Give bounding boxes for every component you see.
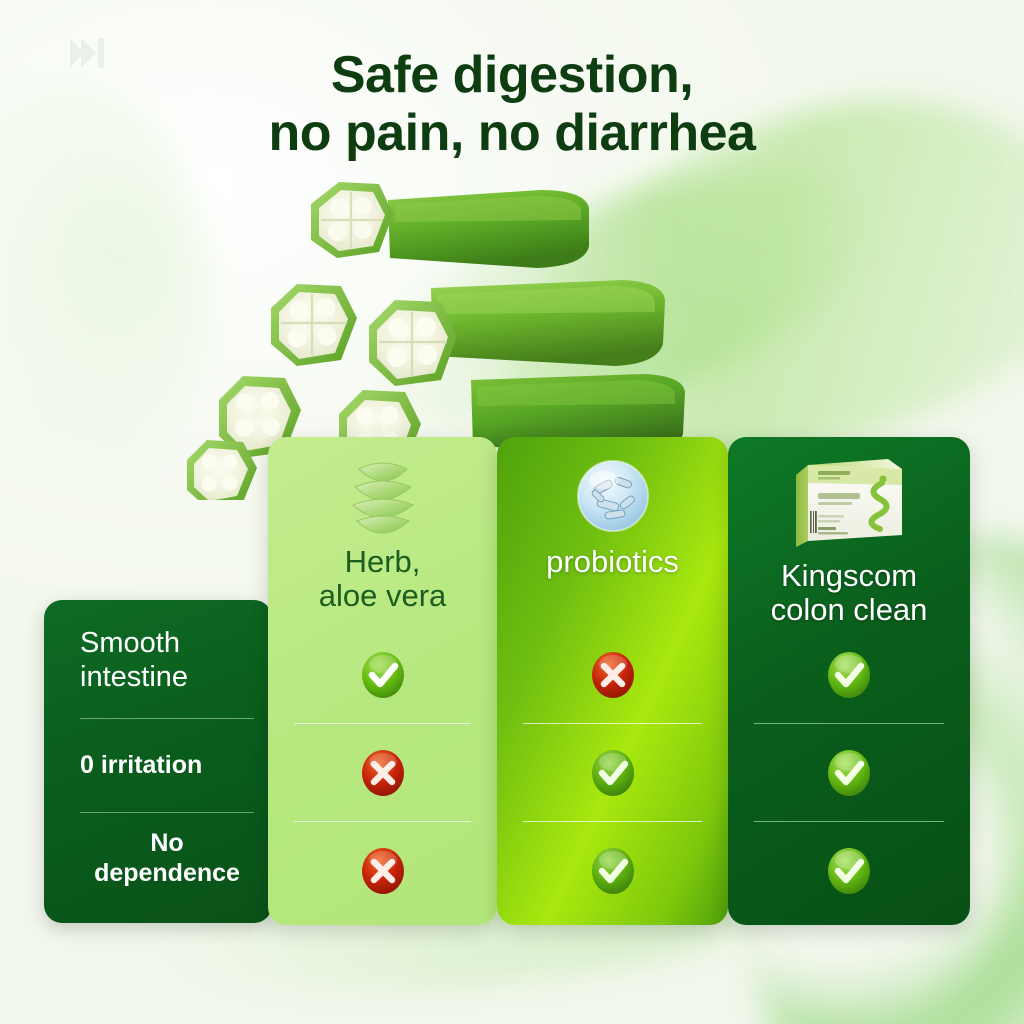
result-cell-smooth-intestine [268,626,497,723]
aloe-vera-slices-icon [337,453,429,539]
check-icon [826,846,872,896]
row-label-smooth-intestine: Smooth intestine [80,626,254,718]
card-result-rows [728,626,970,925]
card-result-rows [268,626,497,925]
comparison-column-herb-aloe-vera[interactable]: Herb, aloe vera [268,437,497,925]
result-cell-no-dependence [268,822,497,919]
row-label-no-dependence: No dependence [80,813,254,905]
probiotics-sphere-icon [567,453,659,539]
card-title-line-2: colon clean [771,592,928,627]
check-icon [590,748,636,798]
card-title-line-1: Herb, [345,544,421,579]
row-label-line-1: Smooth [80,627,180,659]
result-cell-zero-irritation [268,724,497,821]
check-icon [590,846,636,896]
page-headline: Safe digestion, no pain, no diarrhea [0,46,1024,162]
cross-icon [590,650,636,700]
comparison-column-probiotics[interactable]: probiotics [497,437,728,925]
result-cell-no-dependence [497,822,728,919]
result-cell-no-dependence [728,822,970,919]
cross-icon [360,748,406,798]
row-label-line-2: intestine [80,661,188,693]
result-cell-smooth-intestine [728,626,970,723]
headline-line-1: Safe digestion, [331,46,693,104]
card-title: Kingscom colon clean [771,559,928,627]
card-title-line-2: aloe vera [319,578,447,613]
card-title: probiotics [546,545,679,579]
row-label-text: 0 irritation [80,751,202,781]
row-label-line-2: dependence [94,859,240,887]
card-header: Kingscom colon clean [728,437,970,626]
check-icon [826,748,872,798]
result-cell-zero-irritation [497,724,728,821]
card-title: Herb, aloe vera [319,545,447,613]
cross-icon [360,846,406,896]
check-icon [826,650,872,700]
card-result-rows [497,626,728,925]
comparison-column-kingscom-colon-clean[interactable]: Kingscom colon clean [728,437,970,925]
card-title-line-1: Kingscom [781,558,917,593]
row-label-line-1: No [150,829,183,857]
headline-line-2: no pain, no diarrhea [0,104,1024,162]
card-header: Herb, aloe vera [268,437,497,626]
check-icon [360,650,406,700]
card-title-line-1: probiotics [546,544,679,579]
row-label-zero-irritation: 0 irritation [80,719,254,811]
product-box-icon [784,453,914,553]
row-label-panel: Smooth intestine 0 irritation No depende… [44,600,272,923]
card-header: probiotics [497,437,728,626]
result-cell-smooth-intestine [497,626,728,723]
result-cell-zero-irritation [728,724,970,821]
